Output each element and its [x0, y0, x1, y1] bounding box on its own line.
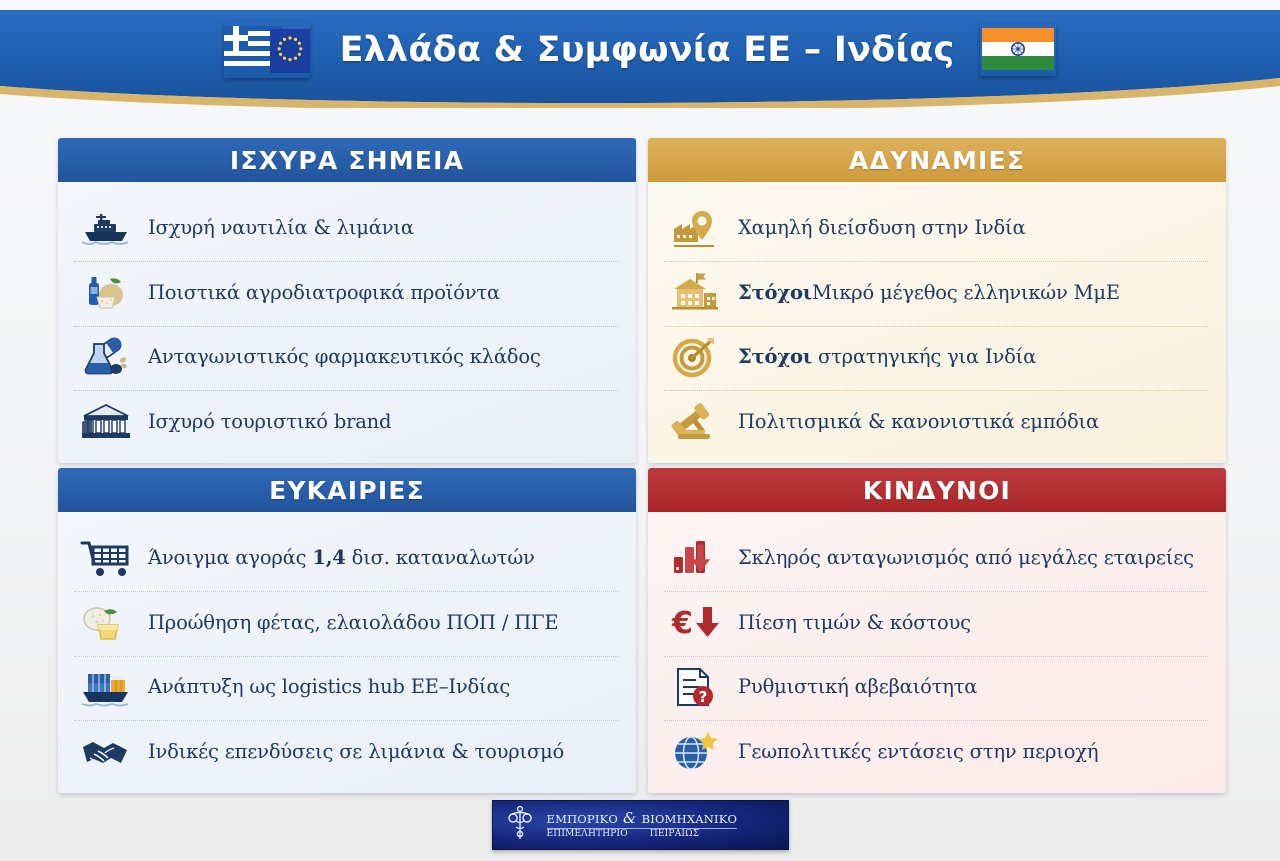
list-item-label: Ρυθμιστική αβεβαιότητα [738, 675, 977, 698]
list-item-label-bold: Στόχοι [738, 345, 812, 368]
list-item[interactable]: Ινδικές επενδύσεις σε λιμάνια & τουρισμό [74, 720, 618, 781]
list-item-label: Ισχυρή ναυτιλία & λιμάνια [148, 216, 414, 239]
euro-down-arrow-icon: € [668, 598, 724, 646]
footer: ΕΜΠΟΡΙΚΟ & ΒΙΟΜΗΧΑΝΙΚΟ ΕΠΙΜΕΛΗΤΗΡΙΟ ΠΕΙΡ… [0, 800, 1280, 850]
list-item-label: Χαμηλή διείσδυση στην Ινδία [738, 216, 1025, 239]
quadrant-title-weaknesses: ΑΔΥΝΑΜΙΕΣ [648, 138, 1226, 182]
chamber-logo[interactable]: ΕΜΠΟΡΙΚΟ & ΒΙΟΜΗΧΑΝΙΚΟ ΕΠΙΜΕΛΗΤΗΡΙΟ ΠΕΙΡ… [492, 800, 789, 850]
logo-line2-left: ΕΠΙΜΕΛΗΤΗΡΙΟ [547, 830, 628, 839]
feta-cheese-icon [78, 598, 134, 646]
quadrant-threats: ΚΙΝΔΥΝΟΙ Σκληρός ανταγωνισμός από μεγάλε… [648, 468, 1226, 793]
globe-star-icon [668, 727, 724, 775]
list-item-label: Ποιστικά αγροδιατροφικά προϊόντα [148, 281, 500, 304]
banner-content: Ελλάδα & Συμφωνία ΕΕ – Ινδίας [0, 0, 1280, 100]
list-item[interactable]: ΣτόχοιΜικρό μέγεθος ελληνικών ΜμΕ [664, 261, 1208, 322]
india-flag-icon [980, 24, 1056, 76]
logo-line2-right: ΠΕΙΡΑΙΩΣ [650, 830, 700, 839]
competition-bars-down-icon [668, 534, 724, 582]
list-item-label: Ανταγωνιστικός φαρμακευτικός κλάδος [148, 345, 541, 368]
document-question-icon: ? [668, 663, 724, 711]
list-item[interactable]: Προώθηση φέτας, ελαιολάδου ΠΟΠ / ΠΓΕ [74, 591, 618, 652]
list-item[interactable]: Σκληρός ανταγωνισμός από μεγάλες εταιρεί… [664, 528, 1208, 588]
shopping-cart-icon [78, 534, 134, 582]
list-item[interactable]: Ανάπτυξη ως logistics hub ΕΕ–Ινδίας [74, 656, 618, 717]
list-item[interactable]: ? Ρυθμιστική αβεβαιότητα [664, 656, 1208, 717]
list-item-label: Άνοιγμα αγοράς 1,4 δισ. καταναλωτών [148, 546, 535, 569]
swot-grid: ΙΣΧΥΡΑ ΣΗΜΕΙΑ [58, 138, 1226, 793]
quadrant-body-weaknesses: Χαμηλή διείσδυση στην Ινδία [648, 182, 1226, 463]
quadrant-body-opportunities: Άνοιγμα αγοράς 1,4 δισ. καταναλωτών Π [58, 512, 636, 793]
list-item-label: Στόχοι στρατηγικής για Ινδία [738, 345, 1036, 368]
quadrant-strengths: ΙΣΧΥΡΑ ΣΗΜΕΙΑ [58, 138, 636, 463]
quadrant-body-threats: Σκληρός ανταγωνισμός από μεγάλες εταιρεί… [648, 512, 1226, 793]
list-item[interactable]: Ισχυρή ναυτιλία & λιμάνια [74, 198, 618, 258]
list-item-label: Προώθηση φέτας, ελαιολάδου ΠΟΠ / ΠΓΕ [148, 611, 558, 634]
list-item[interactable]: Ανταγωνιστικός φαρμακευτικός κλάδος [74, 326, 618, 387]
list-item[interactable]: Χαμηλή διείσδυση στην Ινδία [664, 198, 1208, 258]
quadrant-title-opportunities: ΕΥΚΑΙΡΙΕΣ [58, 468, 636, 512]
list-item[interactable]: Πολιτισμικά & κανονιστικά εμπόδια [664, 390, 1208, 451]
header-banner: Ελλάδα & Συμφωνία ΕΕ – Ινδίας [0, 0, 1280, 108]
logo-line1-right: ΒΙΟΜΗΧΑΝΙΚΟ [642, 813, 738, 825]
list-item[interactable]: Ισχυρό τουριστικό brand [74, 390, 618, 451]
quadrant-weaknesses: ΑΔΥΝΑΜΙΕΣ Χαμηλή διείσδυση στην Ινδία [648, 138, 1226, 463]
gavel-icon [668, 397, 724, 445]
list-item-label: Πολιτισμικά & κανονιστικά εμπόδια [738, 410, 1099, 433]
label-pre: Άνοιγμα αγοράς [148, 546, 312, 569]
flags-left-group [224, 22, 310, 78]
greek-flag-icon [224, 22, 310, 78]
small-business-icon [668, 268, 724, 316]
list-item-label-rest: στρατηγικής για Ινδία [812, 345, 1036, 368]
target-arrow-icon [668, 333, 724, 381]
list-item-label: Ινδικές επενδύσεις σε λιμάνια & τουρισμό [148, 740, 564, 763]
svg-text:?: ? [699, 688, 708, 706]
list-item[interactable]: Άνοιγμα αγοράς 1,4 δισ. καταναλωτών [74, 528, 618, 588]
list-item-label: Ισχυρό τουριστικό brand [148, 410, 391, 433]
label-bold: 1,4 [312, 546, 345, 569]
list-item-label: Σκληρός ανταγωνισμός από μεγάλες εταιρεί… [738, 546, 1194, 569]
quadrant-body-strengths: Ισχυρή ναυτιλία & λιμάνια [58, 182, 636, 463]
page-title: Ελλάδα & Συμφωνία ΕΕ – Ινδίας [340, 30, 955, 70]
quadrant-opportunities: ΕΥΚΑΙΡΙΕΣ [58, 468, 636, 793]
list-item-label-rest: Μικρό μέγεθος ελληνικών ΜμΕ [812, 281, 1120, 304]
quadrant-title-strengths: ΙΣΧΥΡΑ ΣΗΜΕΙΑ [58, 138, 636, 182]
caduceus-icon [503, 805, 537, 845]
olive-oil-cheese-icon [78, 268, 134, 316]
quadrant-title-threats: ΚΙΝΔΥΝΟΙ [648, 468, 1226, 512]
temple-icon [78, 397, 134, 445]
logo-ampersand: & [623, 811, 637, 827]
factory-pin-icon [668, 204, 724, 252]
infographic-page: Ελλάδα & Συμφωνία ΕΕ – Ινδίας ΙΣΧΥΡΑ ΣΗΜ… [0, 0, 1280, 861]
list-item-label: Γεωπολιτικές εντάσεις στην περιοχή [738, 740, 1098, 763]
list-item[interactable]: Στόχοι στρατηγικής για Ινδία [664, 326, 1208, 387]
handshake-icon [78, 727, 134, 775]
chamber-logo-text: ΕΜΠΟΡΙΚΟ & ΒΙΟΜΗΧΑΝΙΚΟ ΕΠΙΜΕΛΗΤΗΡΙΟ ΠΕΙΡ… [547, 811, 738, 839]
logo-line1-left: ΕΜΠΟΡΙΚΟ [547, 813, 619, 825]
list-item[interactable]: Ποιστικά αγροδιατροφικά προϊόντα [74, 261, 618, 322]
svg-text:€: € [671, 606, 693, 641]
list-item-label: Πίεση τιμών & κόστους [738, 611, 971, 634]
list-item-label: ΣτόχοιΜικρό μέγεθος ελληνικών ΜμΕ [738, 281, 1120, 304]
ship-icon [78, 204, 134, 252]
list-item-label: Ανάπτυξη ως logistics hub ΕΕ–Ινδίας [148, 675, 510, 698]
list-item[interactable]: € Πίεση τιμών & κόστους [664, 591, 1208, 652]
pharma-flask-pill-icon [78, 333, 134, 381]
list-item-label-bold: Στόχοι [738, 281, 812, 304]
container-ship-icon [78, 663, 134, 711]
label-post: δισ. καταναλωτών [346, 546, 535, 569]
list-item[interactable]: Γεωπολιτικές εντάσεις στην περιοχή [664, 720, 1208, 781]
